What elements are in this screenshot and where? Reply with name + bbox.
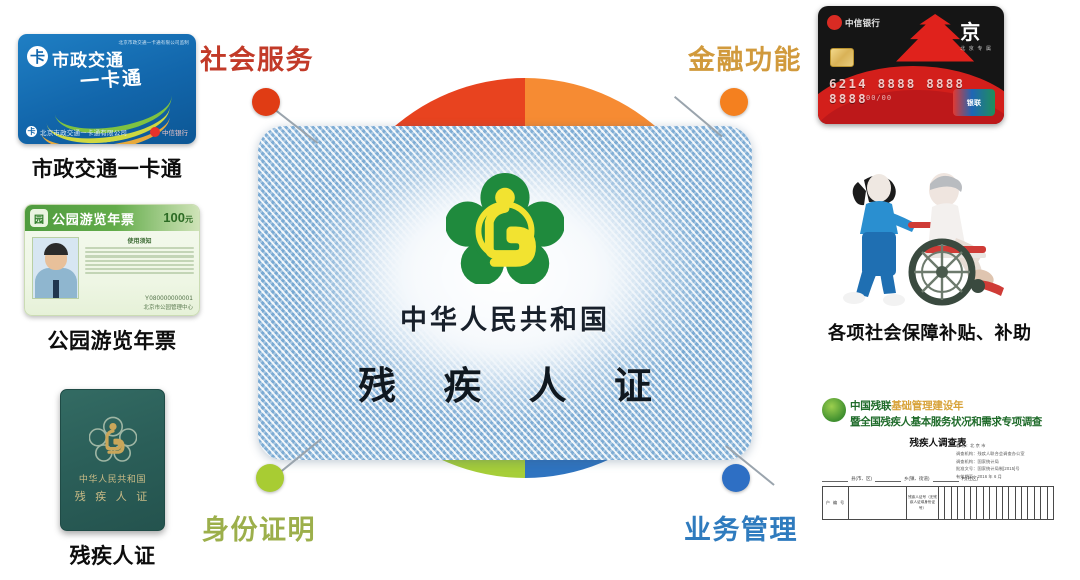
survey-title-org: 中国残联 xyxy=(850,400,891,412)
survey-meta-block: 省 份：北 京 市 调查机构：残疾人联合会调查办公室 调查机构：国家统计局 批准… xyxy=(956,442,1052,481)
unionpay-label: 银联 xyxy=(967,98,981,108)
bank-card-logo-block: 中信银行 xyxy=(827,15,880,30)
survey-title-line2: 暨全国残疾人基本服务状况和需求专项调查 xyxy=(850,414,1054,429)
notice-text-line xyxy=(85,264,194,266)
item-survey-form: 中国残联基础管理建设年 暨全国残疾人基本服务状况和需求专项调查 残疾人调查表 省… xyxy=(822,398,1054,528)
notice-text-line xyxy=(85,255,194,257)
address-blank xyxy=(933,481,959,482)
address-blank xyxy=(875,481,901,482)
transit-card-fineprint: 北京市政交通一卡通有限公司监制 xyxy=(119,40,190,46)
park-pass-price: 100元 xyxy=(163,210,193,225)
survey-form-titles: 中国残联基础管理建设年 暨全国残疾人基本服务状况和需求专项调查 xyxy=(850,398,1054,429)
item-welfare: 各项社会保障补贴、补助 xyxy=(828,160,1032,345)
bank-card-expiry: 00/00 xyxy=(866,94,892,102)
transit-card-image: 北京市政交通一卡通有限公司监制 卡 市政交通 一卡通 卡 北京市政交通一卡通有限… xyxy=(18,34,196,144)
notice-text-line xyxy=(85,268,194,270)
disability-certificate-card: 中华人民共和国 残 疾 人 证 xyxy=(258,126,752,460)
survey-title-line1: 中国残联基础管理建设年 xyxy=(850,398,1054,413)
survey-row-label: 县(市、区) xyxy=(851,476,872,482)
survey-row-label: 村(社区) xyxy=(962,476,979,482)
park-pass-caption: 公园游览年票 xyxy=(48,325,177,355)
survey-table: 户 编 号 残疾人证号（无残疾人证填身份证号） xyxy=(822,486,1054,520)
certificate-country-line: 中华人民共和国 xyxy=(400,298,610,337)
city-mark-sub: 北 京 专 属 xyxy=(960,45,992,52)
survey-table-cells xyxy=(939,487,1053,519)
notice-text-line xyxy=(85,251,194,253)
connector-dot-identity-proof xyxy=(256,464,284,492)
park-pass-title: 公园游览年票 xyxy=(52,209,135,228)
survey-address-row: 县(市、区) 乡(镇、街道) 村(社区) xyxy=(822,476,1054,482)
booklet-title-line: 残 疾 人 证 xyxy=(61,488,164,504)
park-pass-org: 北京市公园管理中心 xyxy=(143,303,193,311)
quadrant-label-financial-function: 金融功能 xyxy=(688,38,802,77)
survey-meta-line: 调查机构：国家统计局 xyxy=(956,458,1052,466)
park-pass-notice: 使用须知 xyxy=(85,236,194,276)
city-mark-glyph: 京 xyxy=(960,20,980,44)
survey-form-image: 中国残联基础管理建设年 暨全国残疾人基本服务状况和需求专项调查 残疾人调查表 省… xyxy=(822,398,1054,528)
booklet-caption: 残疾人证 xyxy=(70,540,156,570)
booklet-country-line: 中华人民共和国 xyxy=(61,472,164,485)
connector-dot-financial-function xyxy=(720,88,748,116)
photo-hair-shape xyxy=(44,243,68,255)
park-pass-image: 园 公园游览年票 100元 使用须知 Y080000000001 xyxy=(24,204,200,316)
survey-meta-line: 省 份：北 京 市 xyxy=(956,442,1052,450)
item-bank-card: 中信银行 京 北 京 专 属 6214 8888 8888 8888 00/00… xyxy=(818,6,1004,124)
transit-card-bank-text: 中信银行 xyxy=(162,127,188,137)
survey-table-col-blank xyxy=(849,487,907,519)
transit-card-bank-block: 中信银行 xyxy=(150,127,188,137)
quadrant-label-identity-proof: 身份证明 xyxy=(202,508,316,547)
notice-text-line xyxy=(85,260,194,262)
survey-title-theme: 基础管理建设年 xyxy=(891,400,963,412)
disability-booklet-image: 中华人民共和国 残 疾 人 证 xyxy=(60,389,165,531)
bank-logo-icon xyxy=(827,15,842,30)
notice-text-line xyxy=(85,247,194,249)
item-park-pass: 园 公园游览年票 100元 使用须知 Y080000000001 xyxy=(24,204,200,355)
park-pass-notice-title: 使用须知 xyxy=(85,236,194,245)
emv-chip-icon xyxy=(830,48,854,67)
welfare-caption: 各项社会保障补贴、补助 xyxy=(828,319,1032,345)
park-pass-seal-icon: 园 xyxy=(30,209,48,227)
item-transit-card: 北京市政交通一卡通有限公司监制 卡 市政交通 一卡通 卡 北京市政交通一卡通有限… xyxy=(18,34,196,183)
transit-card-logo-icon: 卡 xyxy=(27,46,48,67)
transit-card-caption: 市政交通一卡通 xyxy=(32,153,183,183)
park-pass-price-unit: 元 xyxy=(185,215,193,224)
quadrant-label-social-service: 社会服务 xyxy=(200,38,314,77)
notice-text-line xyxy=(85,272,194,274)
survey-meta-line: 调查机构：残疾人联合会调查办公室 xyxy=(956,450,1052,458)
cdpf-seal-icon xyxy=(822,398,846,422)
survey-meta-line: 批准文号：国家统计局制[2015]号 xyxy=(956,465,1052,473)
park-pass-number: Y080000000001 xyxy=(145,296,193,302)
photo-tie-shape xyxy=(53,280,59,298)
cdpf-emblem-icon xyxy=(446,172,564,284)
booklet-emblem-icon xyxy=(89,416,137,462)
connector-dot-social-service xyxy=(252,88,280,116)
wheelchair-assistance-illustration xyxy=(832,160,1028,310)
park-pass-price-value: 100 xyxy=(163,210,185,225)
survey-table-col-label: 户 编 号 xyxy=(823,487,849,519)
transit-card-bank-icon xyxy=(150,127,160,137)
bank-card-bank-name: 中信银行 xyxy=(845,17,880,29)
unionpay-logo-icon: 银联 xyxy=(953,89,995,116)
park-pass-photo xyxy=(32,237,79,299)
bank-card-image: 中信银行 京 北 京 专 属 6214 8888 8888 8888 00/00… xyxy=(818,6,1004,124)
certificate-title-line: 残 疾 人 证 xyxy=(341,355,669,410)
transit-card-issuer-text: 北京市政交通一卡通有限公司 xyxy=(40,127,127,137)
address-blank xyxy=(822,481,848,482)
survey-table-col-idlabel: 残疾人证号（无残疾人证填身份证号） xyxy=(907,487,939,519)
infographic-canvas: 中华人民共和国 残 疾 人 证 社会服务 金融功能 身份证明 业务管理 北京市政… xyxy=(0,0,1080,580)
survey-row-label: 乡(镇、街道) xyxy=(904,476,930,482)
transit-card-issuer-icon: 卡 xyxy=(26,126,37,137)
survey-cell xyxy=(1048,487,1053,519)
connector-dot-business-management xyxy=(722,464,750,492)
quadrant-label-business-management: 业务管理 xyxy=(684,508,798,547)
survey-form-header: 中国残联基础管理建设年 暨全国残疾人基本服务状况和需求专项调查 xyxy=(822,398,1054,429)
transit-card-issuer-block: 卡 北京市政交通一卡通有限公司 xyxy=(26,126,127,137)
item-booklet: 中华人民共和国 残 疾 人 证 残疾人证 xyxy=(60,389,165,570)
bank-card-city-mark: 京 北 京 专 属 xyxy=(960,16,992,52)
